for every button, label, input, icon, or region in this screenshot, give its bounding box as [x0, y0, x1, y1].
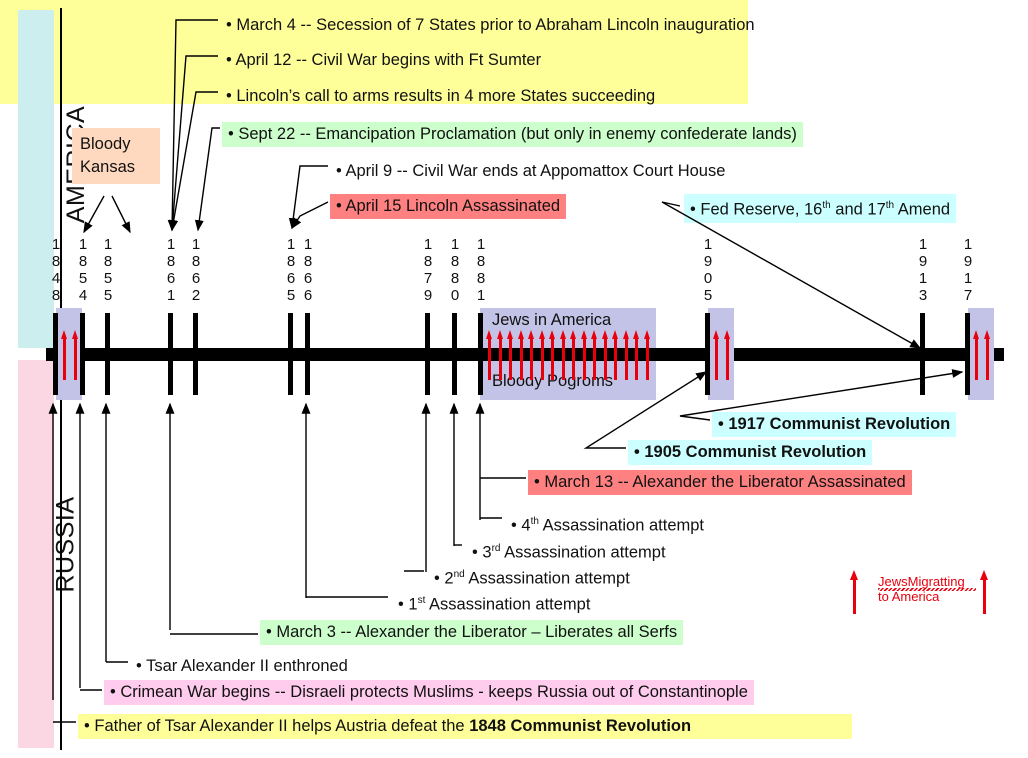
bloody-kansas-line2: Kansas [80, 156, 152, 179]
attempt2-num: 2 [444, 570, 453, 588]
year-highlight-1848 [56, 308, 82, 400]
attempt2-rest: Assassination attempt [465, 570, 630, 588]
father-tsar-bold: 1848 Communist Revolution [469, 717, 691, 735]
tick-1855 [105, 313, 110, 395]
migration-legend: JewsMigratting to America [850, 570, 1010, 618]
migration-legend-line2: to America [878, 589, 965, 604]
attempt3-num: 3 [482, 544, 491, 562]
spellcheck-squiggle-icon [878, 588, 976, 591]
callout-sept22: • Sept 22 -- Emancipation Proclamation (… [222, 122, 803, 147]
year-label-1855: 1855 [100, 236, 116, 304]
year-label-1905: 1905 [700, 236, 716, 304]
callout-april9: • April 9 -- Civil War ends at Appomatto… [330, 159, 731, 184]
attempt4-num: 4 [521, 517, 530, 535]
year-highlight-1917 [968, 308, 994, 400]
attempt4-sup: th [531, 516, 539, 527]
callout-crimean-war: • Crimean War begins -- Disraeli protect… [104, 680, 754, 705]
callout-march13: • March 13 -- Alexander the Liberator As… [528, 470, 912, 495]
timeline-diagram: AMERICA RUSSIA • March 4 -- Secession of… [0, 0, 1028, 758]
timeline-axis [46, 348, 1004, 361]
wire-april9-1865 [292, 166, 328, 228]
callout-attempt-4: • 4th Assassination attempt [505, 510, 710, 539]
callout-attempt-3: • 3rd Assassination attempt [466, 537, 672, 566]
year-label-1854: 1854 [75, 236, 91, 304]
callout-rev1917: • 1917 Communist Revolution [712, 412, 956, 437]
callout-rev1905: • 1905 Communist Revolution [628, 440, 872, 465]
russia-band-label-text: RUSSIA [52, 496, 81, 592]
callout-march3: • March 3 -- Alexander the Liberator – L… [260, 620, 683, 645]
wire-lincolncall-1861 [172, 92, 218, 230]
callout-attempt-2: • 2nd Assassination attempt [428, 563, 636, 592]
callout-march4: • March 4 -- Secession of 7 States prior… [226, 16, 755, 35]
wire-kansas-1855 [112, 196, 130, 232]
year-label-1913: 1913 [915, 236, 931, 304]
migration-arrow-left-icon [850, 570, 859, 614]
callout-tsar-enthroned: • Tsar Alexander II enthroned [130, 654, 354, 679]
migration-arrow-right-icon [980, 570, 989, 614]
year-label-1861: 1861 [163, 236, 179, 304]
year-label-1917: 1917 [960, 236, 976, 304]
fed-reserve-sup-16th: th [822, 200, 830, 211]
tick-1905 [705, 313, 710, 395]
fed-reserve-sup-17th: th [886, 200, 894, 211]
year-highlight-1905 [708, 308, 734, 400]
year-label-1881: 1881 [473, 236, 489, 304]
fed-reserve-mid2: and 17 [831, 201, 886, 219]
russia-band-label: RUSSIA [18, 530, 54, 559]
callout-bloody-kansas: Bloody Kansas [72, 128, 160, 184]
attempt2-sup: nd [454, 569, 465, 580]
attempt1-num: 1 [408, 596, 417, 614]
attempt4-rest: Assassination attempt [539, 517, 704, 535]
callout-lincoln-call: • Lincoln’s call to arms results in 4 mo… [226, 87, 655, 106]
tick-1917 [965, 313, 970, 395]
callout-attempt-1: • 1st Assassination attempt [392, 589, 596, 618]
year-label-1848: 1848 [48, 236, 64, 304]
tick-1879 [425, 313, 430, 395]
tick-1848 [53, 313, 58, 395]
attempt3-rest: Assassination attempt [500, 544, 665, 562]
attempt1-rest: Assassination attempt [425, 596, 590, 614]
year-label-1862: 1862 [188, 236, 204, 304]
callout-father-tsar: • Father of Tsar Alexander II helps Aust… [78, 714, 852, 739]
callout-april12: • April 12 -- Civil War begins with Ft S… [226, 51, 541, 70]
fed-reserve-pre: • Fed Reserve [690, 201, 795, 219]
year-label-1866: 1866 [300, 236, 316, 304]
america-band-label: AMERICA [18, 150, 54, 179]
tick-1880 [452, 313, 457, 395]
year-label-1879: 1879 [420, 236, 436, 304]
fed-reserve-mid: , 16 [795, 201, 823, 219]
migration-legend-line1: JewsMigratting [878, 574, 965, 589]
wire-april15-1865 [292, 202, 328, 228]
callout-fed-reserve: • Fed Reserve, 16th and 17th Amend [684, 194, 956, 223]
fed-reserve-end: Amend [894, 201, 950, 219]
wire-sept22-1862 [198, 128, 220, 230]
callout-april15: • April 15 Lincoln Assassinated [330, 194, 566, 219]
year-label-1865: 1865 [283, 236, 299, 304]
tick-1854 [80, 313, 85, 395]
tick-1862 [193, 313, 198, 395]
tick-1881 [478, 313, 483, 395]
year-label-1880: 1880 [447, 236, 463, 304]
pogrom-label-jews-in-america: Jews in America [492, 311, 611, 330]
tick-1865 [288, 313, 293, 395]
bloody-kansas-line1: Bloody [80, 133, 152, 156]
father-tsar-pre: • Father of Tsar Alexander II helps Aust… [84, 717, 469, 735]
tick-1861 [168, 313, 173, 395]
tick-1913 [920, 313, 925, 395]
tick-1866 [305, 313, 310, 395]
